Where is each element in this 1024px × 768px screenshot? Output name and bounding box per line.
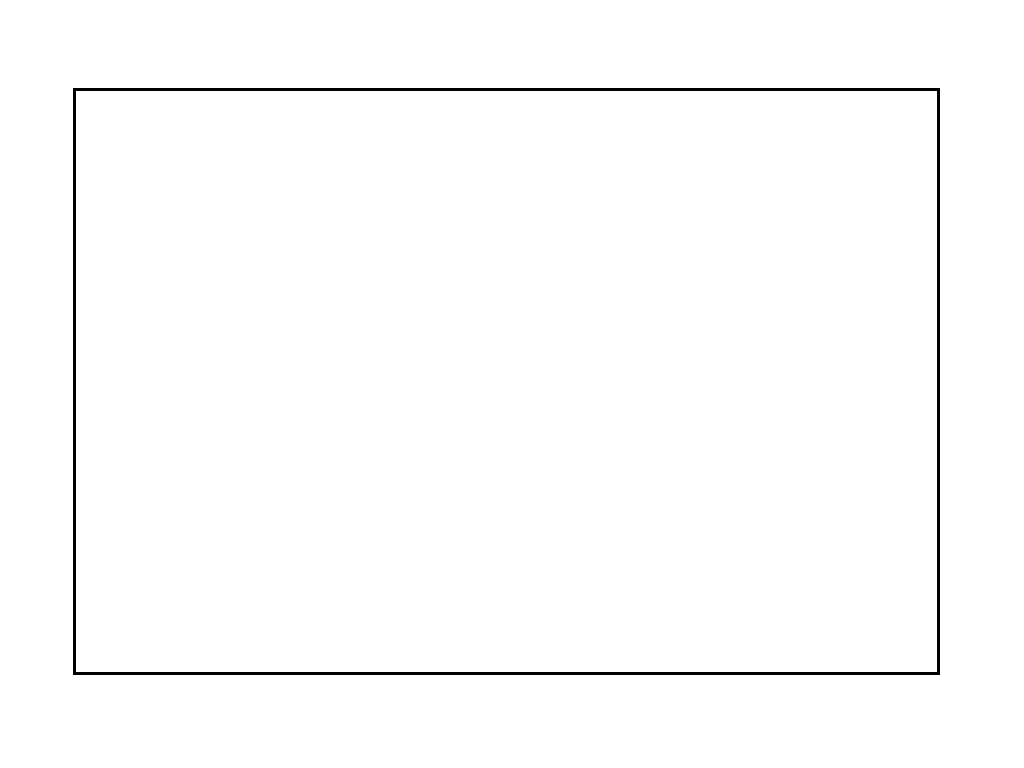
- heatmap-plot-area: [73, 88, 940, 675]
- chart-title: [0, 50, 1024, 76]
- xaxis-title: [0, 730, 1024, 759]
- heatmap-cell-grid: [76, 91, 937, 672]
- richardson-number-colorbar: [945, 297, 964, 442]
- chart-canvas: [0, 0, 1024, 768]
